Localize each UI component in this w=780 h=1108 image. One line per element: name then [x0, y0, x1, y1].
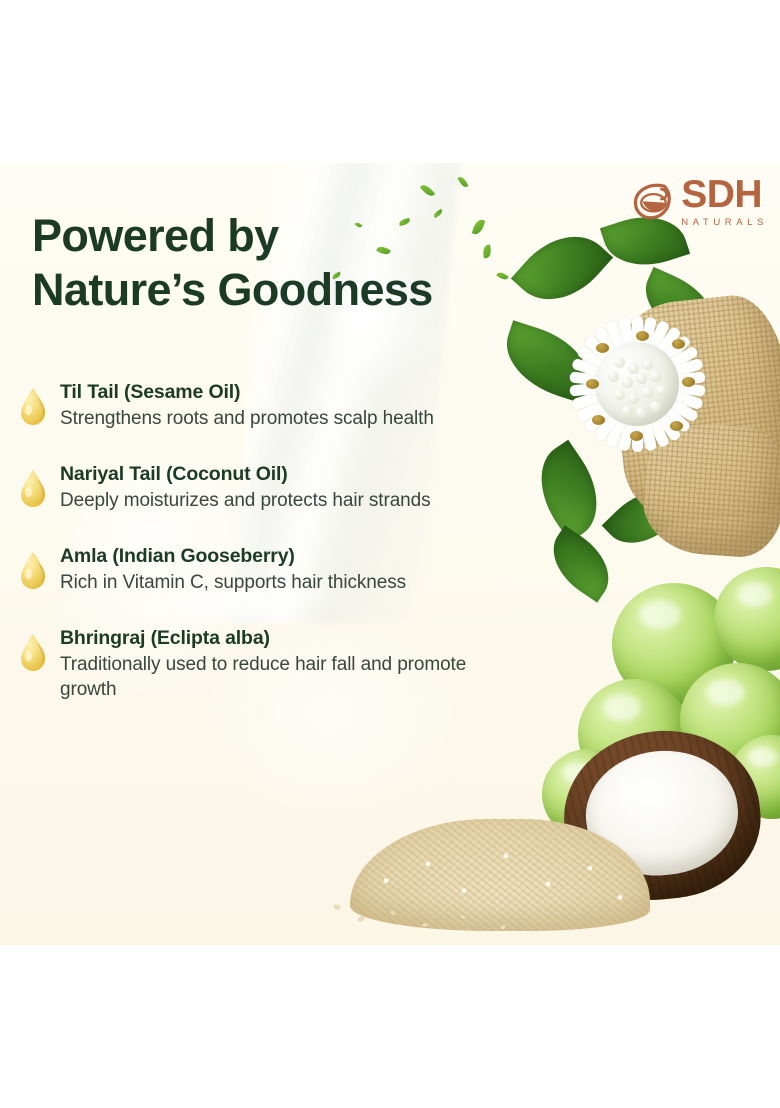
halved-coconut [556, 721, 768, 909]
oil-drop-icon [18, 387, 48, 427]
green-leaf [602, 474, 689, 560]
flower-petal [617, 349, 669, 448]
page-title: Powered by Nature’s Goodness [32, 209, 572, 316]
sesame-seed-pile [350, 819, 650, 931]
amla-gooseberry [730, 735, 780, 819]
flower-petal [583, 334, 668, 412]
flower-anther [672, 339, 685, 349]
flower-bud [636, 407, 647, 418]
flower-petal [617, 316, 649, 420]
flower-center [595, 342, 679, 426]
amla-gooseberry [612, 583, 736, 705]
brand-logo[interactable]: SDH NATURALS [629, 177, 768, 228]
oil-drop-icon [18, 633, 48, 673]
flower-petal [632, 316, 643, 420]
flower-petal [593, 326, 663, 417]
green-leaf [539, 525, 623, 602]
flower-anther [682, 377, 695, 387]
flower-bud [628, 363, 639, 374]
flower-petal [611, 352, 681, 443]
sesame-seed [358, 916, 365, 922]
logo-tagline: NATURALS [681, 213, 768, 228]
ingredient-description: Deeply moisturizes and protects hair str… [60, 488, 498, 513]
leaf-fleck-icon [458, 175, 469, 188]
headline-line-1: Powered by [32, 209, 572, 263]
flower-petal [617, 320, 669, 419]
flower-petal [601, 371, 706, 393]
burlap-jute-sack [607, 291, 780, 528]
flower-petal [583, 356, 668, 434]
amla-gooseberry [714, 567, 780, 671]
green-leaf [633, 267, 726, 345]
flower-petal [604, 320, 656, 419]
sesame-seed [334, 904, 341, 909]
ingredient-title: Til Tail (Sesame Oil) [60, 381, 498, 405]
flower-anther [596, 343, 609, 353]
flower-petal [604, 349, 656, 448]
ingredient-list: Til Tail (Sesame Oil) Strengthens roots … [18, 381, 498, 702]
headline-line-2: Nature’s Goodness [32, 263, 572, 317]
flower-bud [656, 385, 667, 396]
flower-anther [670, 421, 683, 431]
flower-anther [636, 331, 649, 341]
leaf-mortar-pestle-icon [629, 179, 675, 225]
flower-bud [614, 389, 625, 400]
flower-petal [569, 371, 674, 393]
flower-bud [628, 393, 639, 404]
burlap-jute-sack-fold [640, 420, 780, 559]
ingredient-title: Bhringraj (Eclipta alba) [60, 627, 498, 651]
list-item: Nariyal Tail (Coconut Oil) Deeply moistu… [18, 463, 498, 513]
flower-petal [624, 316, 656, 420]
amla-gooseberry [578, 679, 690, 789]
green-leaf [495, 320, 600, 404]
flower-bud [608, 371, 619, 382]
flower-petal [575, 345, 671, 407]
coconut-rind [556, 721, 768, 909]
sesame-seed [460, 914, 467, 920]
flower-bud [642, 359, 653, 370]
ingredient-description: Rich in Vitamin C, supports hair thickne… [60, 570, 498, 595]
flower-petal [617, 348, 649, 452]
flower-petal [571, 358, 673, 401]
flower-petal [601, 358, 703, 401]
flower-petal [571, 368, 673, 411]
sesame-seed [390, 909, 397, 916]
flower-anther [586, 379, 599, 389]
flower-petal [575, 361, 671, 423]
flower-anther [630, 431, 643, 441]
ingredient-description: Traditionally used to reduce hair fall a… [60, 652, 498, 703]
flower-bud [614, 357, 625, 368]
flower-bud [642, 387, 653, 398]
leaf-fleck-icon [420, 183, 435, 199]
page-root: Powered by Nature’s Goodness SDH NATURAL… [0, 0, 780, 1108]
flower-petal [569, 375, 674, 397]
oil-drop-icon [18, 551, 48, 591]
ingredient-description: Strengthens roots and promotes scalp hea… [60, 406, 498, 431]
artwork-canvas: Powered by Nature’s Goodness SDH NATURAL… [0, 163, 780, 945]
coconut-flesh [579, 744, 744, 884]
logo-wordmark: SDH NATURALS [681, 177, 768, 228]
list-item: Bhringraj (Eclipta alba) Traditionally u… [18, 627, 498, 702]
flower-petal [607, 356, 692, 434]
flower-bud [636, 373, 647, 384]
green-leaf [522, 440, 617, 543]
flower-petal [607, 334, 692, 412]
flower-petal [601, 375, 706, 397]
logo-name: SDH [681, 177, 768, 213]
flower-anther [592, 415, 605, 425]
amla-gooseberry [542, 749, 634, 839]
flower-petal [603, 361, 699, 423]
oil-drop-icon [18, 469, 48, 509]
flower-petal [603, 345, 699, 407]
flower-bud [622, 377, 633, 388]
list-item-text: Amla (Indian Gooseberry) Rich in Vitamin… [60, 545, 498, 595]
flower-petal [611, 326, 681, 417]
ingredient-title: Nariyal Tail (Coconut Oil) [60, 463, 498, 487]
list-item: Til Tail (Sesame Oil) Strengthens roots … [18, 381, 498, 431]
flower-petal [632, 348, 643, 452]
list-item-text: Til Tail (Sesame Oil) Strengthens roots … [60, 381, 498, 431]
list-item-text: Nariyal Tail (Coconut Oil) Deeply moistu… [60, 463, 498, 513]
flower-petal [601, 368, 703, 411]
list-item-text: Bhringraj (Eclipta alba) Traditionally u… [60, 627, 498, 702]
amla-gooseberry [680, 663, 780, 777]
sesame-seed [500, 924, 507, 930]
flower-petal [593, 352, 663, 443]
flower-bud [650, 371, 661, 382]
flower-bud [622, 405, 633, 416]
ingredient-title: Amla (Indian Gooseberry) [60, 545, 498, 569]
list-item: Amla (Indian Gooseberry) Rich in Vitamin… [18, 545, 498, 595]
sesame-seed [422, 923, 429, 928]
flower-bud [650, 401, 661, 412]
flower-petal [624, 348, 656, 452]
